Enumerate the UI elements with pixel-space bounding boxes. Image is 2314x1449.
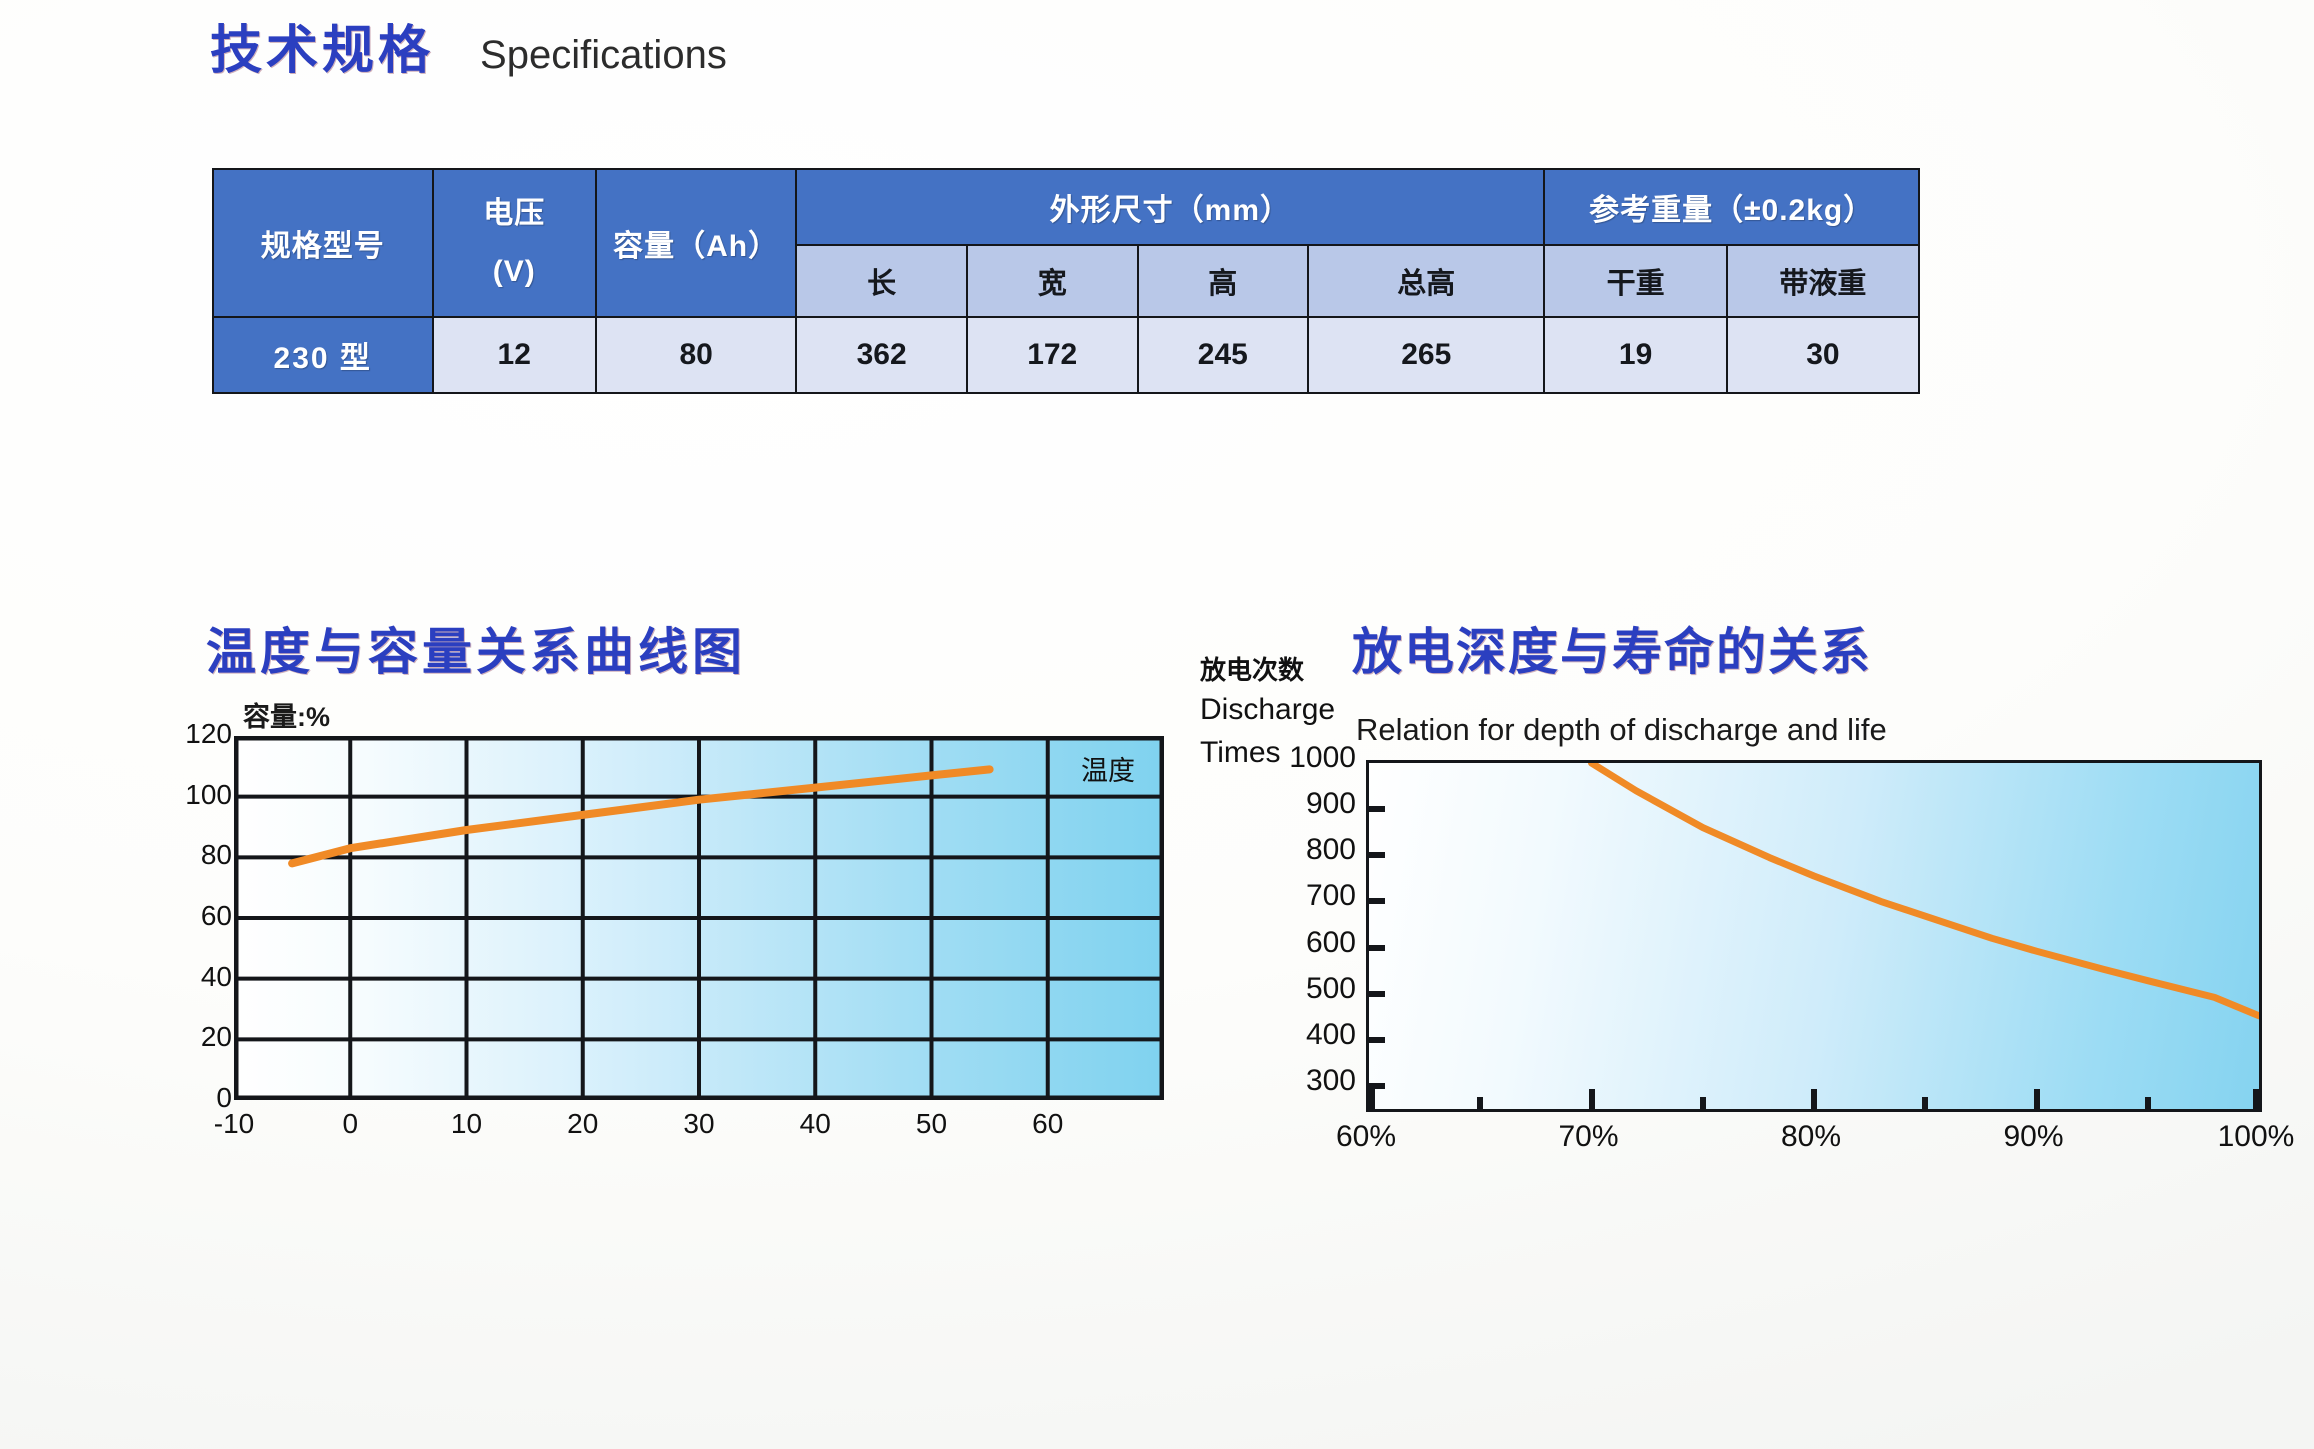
chart2-y-tick: 800	[1264, 833, 1356, 867]
chart1-x-tick: 20	[543, 1108, 623, 1140]
cell-voltage: 12	[433, 317, 596, 393]
chart1-x-ticks: -100102030405060	[234, 1108, 1164, 1148]
cell-capacity: 80	[596, 317, 796, 393]
chart1-y-tick: 20	[162, 1021, 232, 1053]
chart2-x-tick: 100%	[2201, 1120, 2311, 1154]
header-voltage: 电压 (V)	[433, 169, 596, 317]
chart2-x-minor-tick-mark	[1477, 1097, 1483, 1109]
chart2-y-tick-mark	[1369, 1037, 1385, 1043]
header-capacity: 容量（Ah）	[596, 169, 796, 317]
cell-width: 172	[967, 317, 1138, 393]
chart2-y-tick: 700	[1264, 879, 1356, 913]
chart1-x-tick: 10	[427, 1108, 507, 1140]
chart2-x-tick-mark	[1811, 1089, 1817, 1109]
chart1-y-tick: 100	[162, 779, 232, 811]
chart2-x-minor-tick-mark	[2145, 1097, 2151, 1109]
chart1-x-tick: 50	[892, 1108, 972, 1140]
header-dry-weight: 干重	[1544, 245, 1727, 317]
chart2-x-tick-mark	[1589, 1089, 1595, 1109]
chart2-y-tick-mark	[1369, 898, 1385, 904]
page-title-en: Specifications	[480, 33, 727, 78]
discharge-depth-life-chart: 放电深度与寿命的关系 Relation for depth of dischar…	[1200, 612, 2300, 1172]
chart1-title: 温度与容量关系曲线图	[206, 612, 746, 684]
chart2-x-tick-mark	[1369, 1089, 1375, 1109]
chart1-x-tick: 30	[659, 1108, 739, 1140]
chart2-x-tick: 90%	[1979, 1120, 2089, 1154]
chart2-curve-svg	[1369, 763, 2259, 1109]
chart2-x-tick: 80%	[1756, 1120, 1866, 1154]
chart1-legend: 温度	[1056, 744, 1160, 792]
chart2-y-axis-label-en1: Discharge	[1200, 689, 1350, 732]
chart1-y-tick: 60	[162, 900, 232, 932]
chart2-y-ticks: 1000900800700600500400300	[1256, 760, 1356, 1112]
chart2-y-tick: 600	[1264, 926, 1356, 960]
chart2-y-tick-mark	[1369, 806, 1385, 812]
specifications-table-container: 规格型号 电压 (V) 容量（Ah） 外形尺寸（mm） 参考重量（±0.2kg）…	[212, 168, 1920, 394]
chart2-x-minor-tick-mark	[1700, 1097, 1706, 1109]
table-header-row-1: 规格型号 电压 (V) 容量（Ah） 外形尺寸（mm） 参考重量（±0.2kg）	[213, 169, 1919, 245]
chart2-x-tick-mark	[2253, 1089, 2259, 1109]
chart2-y-tick: 300	[1264, 1064, 1356, 1098]
chart2-x-tick-mark	[2034, 1089, 2040, 1109]
chart2-title: 放电深度与寿命的关系	[1352, 612, 1872, 684]
chart1-x-tick: -10	[194, 1108, 274, 1140]
page-title-cn: 技术规格	[210, 8, 434, 83]
chart1-grid-svg	[234, 736, 1164, 1100]
cell-dry-weight: 19	[1544, 317, 1727, 393]
chart2-y-tick: 900	[1264, 787, 1356, 821]
chart1-x-tick: 0	[310, 1108, 390, 1140]
header-model: 规格型号	[213, 169, 433, 317]
chart2-y-tick: 1000	[1264, 741, 1356, 775]
temperature-capacity-chart: 温度与容量关系曲线图 容量:% 温度 020406080100120 -1001…	[200, 612, 1200, 1172]
chart2-x-tick: 70%	[1534, 1120, 1644, 1154]
chart1-y-axis-label: 容量:%	[243, 695, 330, 734]
chart2-y-tick-mark	[1369, 991, 1385, 997]
chart2-plot-area	[1366, 760, 2262, 1112]
chart1-plot-area: 温度	[234, 736, 1164, 1100]
header-dimensions: 外形尺寸（mm）	[796, 169, 1544, 245]
header-total-height: 总高	[1308, 245, 1544, 317]
table-row: 230 型 12 80 362 172 245 265 19 30	[213, 317, 1919, 393]
chart1-y-tick: 80	[162, 839, 232, 871]
cell-wet-weight: 30	[1727, 317, 1919, 393]
chart2-y-tick-mark	[1369, 945, 1385, 951]
chart1-y-ticks: 020406080100120	[162, 736, 232, 1100]
header-voltage-unit: (V)	[434, 243, 595, 302]
header-wet-weight: 带液重	[1727, 245, 1919, 317]
chart1-x-tick: 60	[1008, 1108, 1088, 1140]
chart2-x-tick: 60%	[1311, 1120, 1421, 1154]
chart1-x-tick: 40	[775, 1108, 855, 1140]
cell-model: 230 型	[213, 317, 433, 393]
specifications-table: 规格型号 电压 (V) 容量（Ah） 外形尺寸（mm） 参考重量（±0.2kg）…	[212, 168, 1920, 394]
chart2-y-axis-label-cn: 放电次数	[1200, 652, 1350, 689]
chart2-y-tick: 400	[1264, 1018, 1356, 1052]
chart2-y-tick-mark	[1369, 852, 1385, 858]
chart2-x-minor-tick-mark	[1922, 1097, 1928, 1109]
cell-length: 362	[796, 317, 967, 393]
chart2-subtitle: Relation for depth of discharge and life	[1356, 712, 1887, 748]
header-length: 长	[796, 245, 967, 317]
chart2-y-tick: 500	[1264, 972, 1356, 1006]
chart1-y-tick: 120	[162, 718, 232, 750]
chart2-x-ticks: 60%70%80%90%100%	[1366, 1120, 2262, 1160]
page-title: 技术规格 Specifications	[210, 8, 727, 83]
cell-height: 245	[1138, 317, 1309, 393]
header-weight: 参考重量（±0.2kg）	[1544, 169, 1919, 245]
header-height: 高	[1138, 245, 1309, 317]
chart1-y-tick: 40	[162, 961, 232, 993]
header-width: 宽	[967, 245, 1138, 317]
cell-total-height: 265	[1308, 317, 1544, 393]
header-voltage-cn: 电压	[434, 185, 595, 244]
